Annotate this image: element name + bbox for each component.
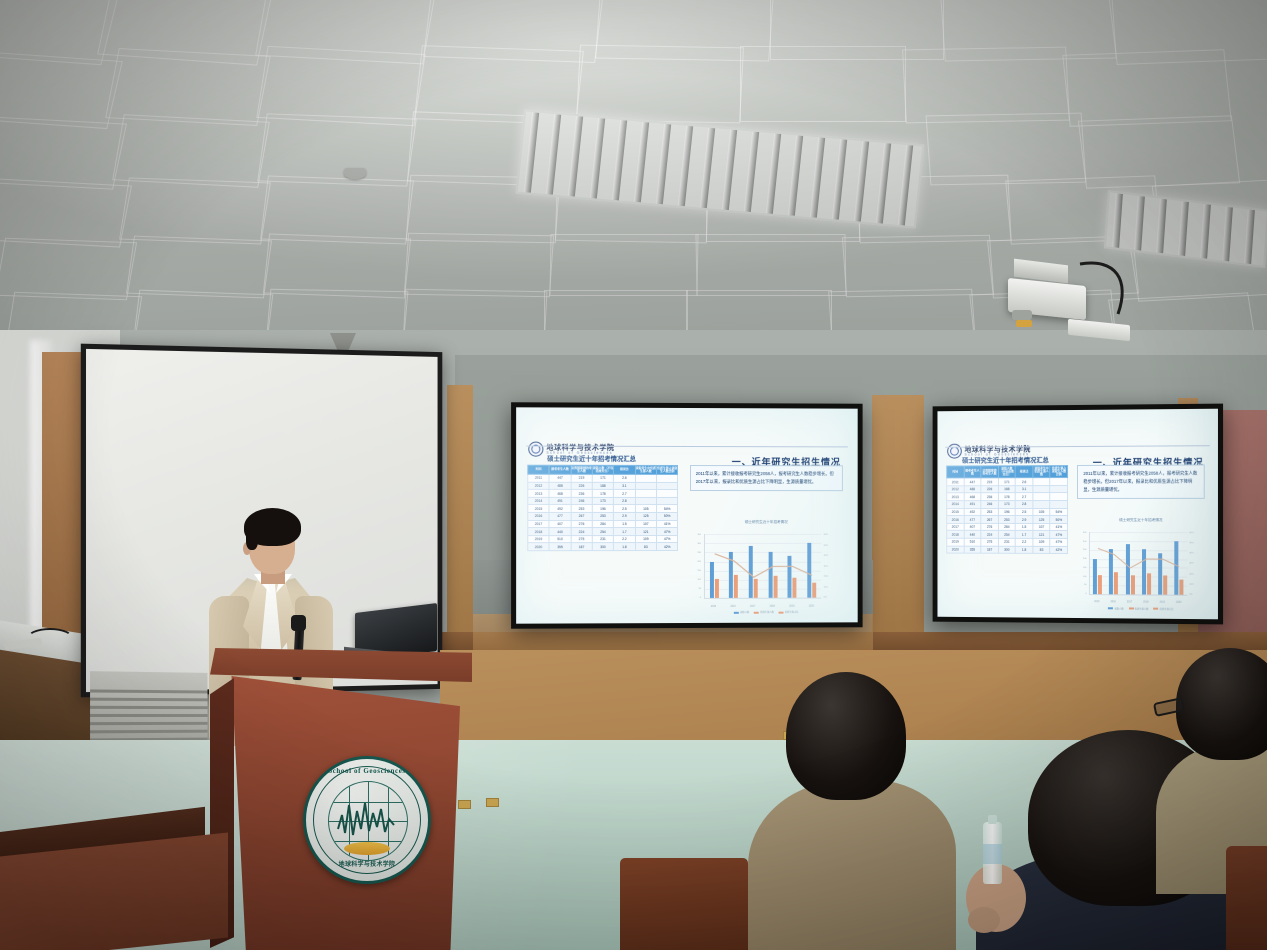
audience-hair xyxy=(786,672,906,800)
audience-hair xyxy=(1176,648,1267,760)
sun-icon xyxy=(344,842,390,855)
podium: School of Geosciences 地球科学与技术学院 xyxy=(210,648,472,950)
secondary-projection-screen: 地球科学与技术学院 School of Geosciences 一、近年研究生招… xyxy=(933,404,1223,625)
globe-icon xyxy=(328,781,408,861)
audience-member-left xyxy=(748,672,963,950)
audience-torso xyxy=(748,780,956,950)
emblem-chinese-text: 地球科学与技术学院 xyxy=(306,859,428,868)
stage-outlet[interactable] xyxy=(486,798,499,807)
audience-chair[interactable] xyxy=(620,858,748,950)
presenter-hair xyxy=(244,508,301,546)
water-bottle[interactable] xyxy=(983,822,1002,884)
microphone-head-icon xyxy=(291,615,306,631)
emblem-english-text: School of Geosciences xyxy=(306,767,428,775)
audience-chair[interactable] xyxy=(1226,846,1267,950)
seismic-waveform-icon xyxy=(336,799,398,839)
school-emblem: School of Geosciences 地球科学与技术学院 xyxy=(303,756,431,884)
projector-lens-icon xyxy=(1012,310,1032,320)
wood-column xyxy=(872,395,924,645)
audience-member-right xyxy=(1148,648,1267,848)
main-projection-screen: 地球科学与技术学院 School of Geosciences 一、近年研究生招… xyxy=(511,402,863,628)
projector-cable xyxy=(1078,258,1134,320)
projector-indicator-icon xyxy=(1016,320,1032,327)
wood-column xyxy=(447,385,473,660)
conference-room-photo: 地球科学与技术学院 School of Geosciences 一、近年研究生招… xyxy=(0,0,1267,950)
